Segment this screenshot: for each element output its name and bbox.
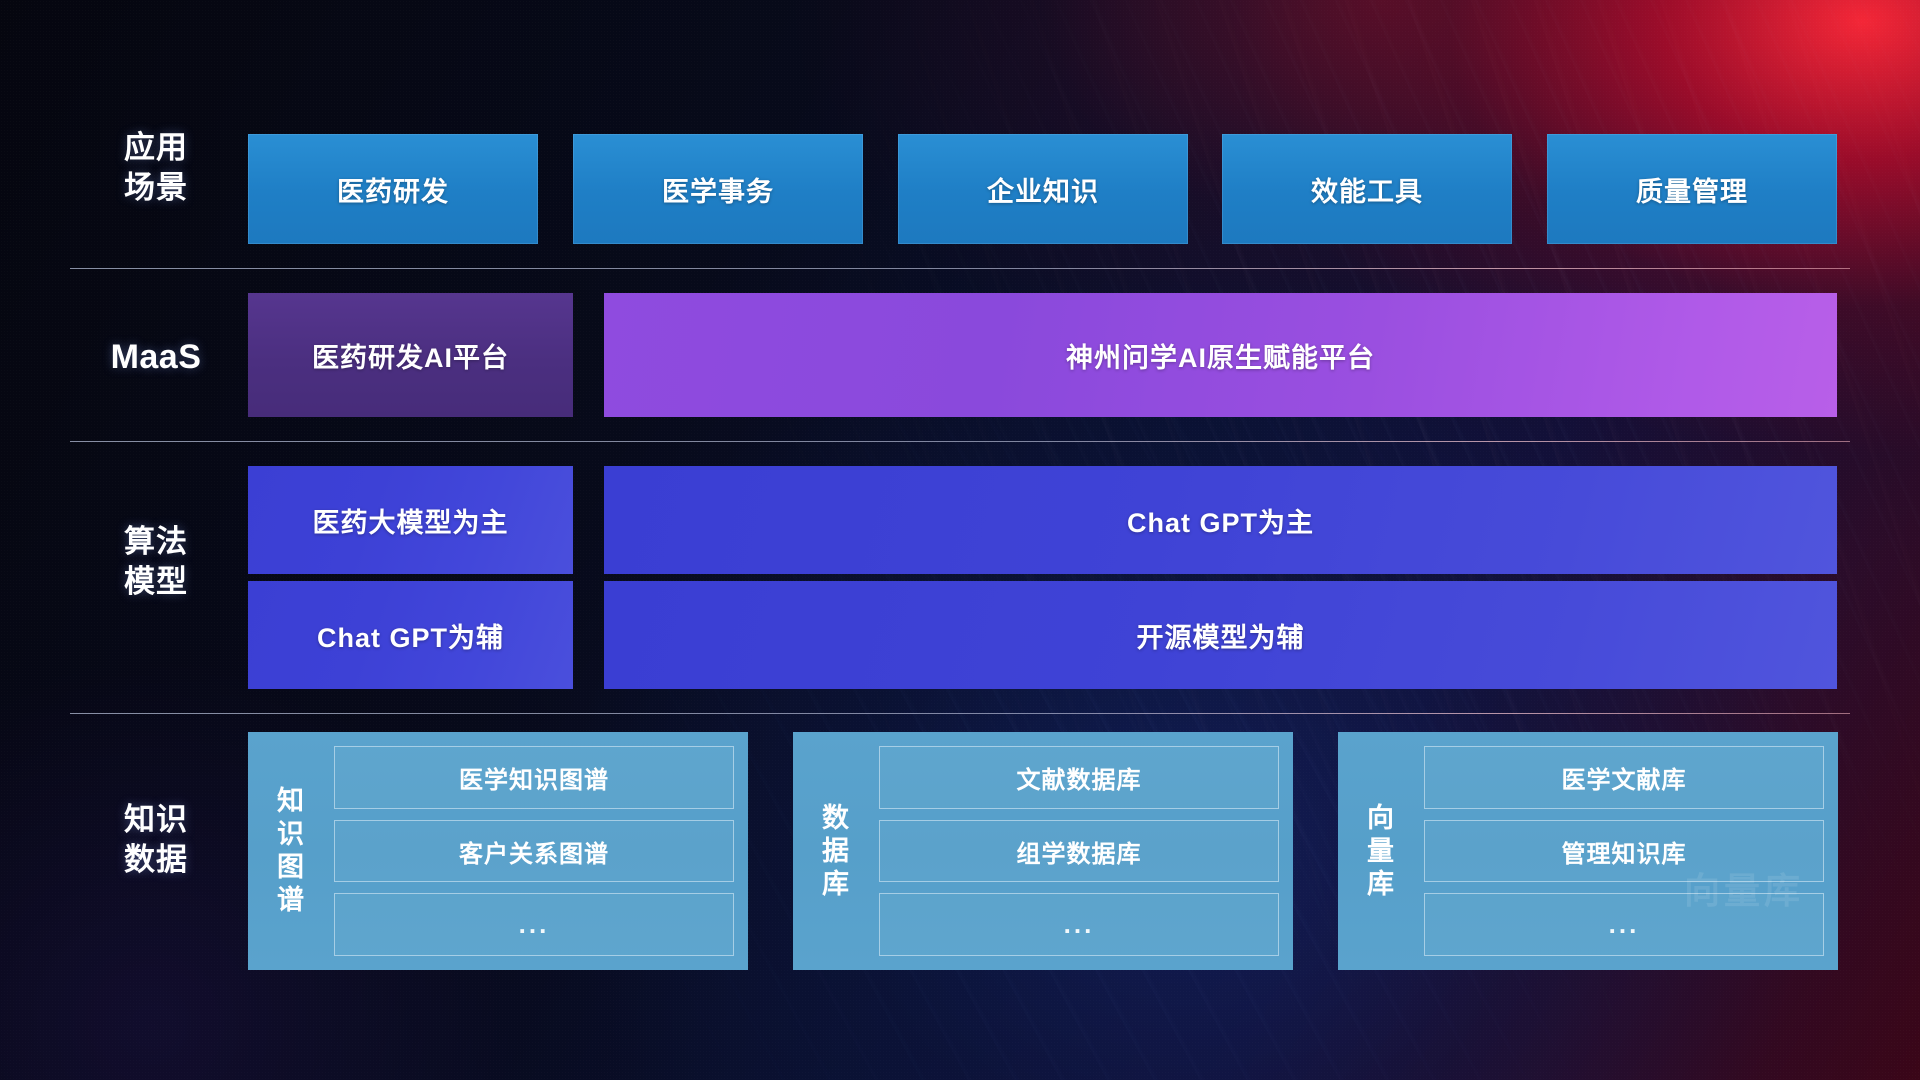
knowledge-item-2-3[interactable]: ... bbox=[879, 893, 1279, 956]
row-label-maas: MaaS bbox=[86, 337, 226, 377]
knowledge-panel-3-items: 医学文献库 管理知识库 ... bbox=[1424, 746, 1824, 956]
divider-application-maas bbox=[70, 268, 1850, 269]
knowledge-item-1-1[interactable]: 医学知识图谱 bbox=[334, 746, 734, 809]
algorithm-label-r2c2: 开源模型为辅 bbox=[1137, 616, 1305, 655]
knowledge-item-3-2[interactable]: 管理知识库 bbox=[1424, 820, 1824, 883]
divider-maas-algorithm bbox=[70, 441, 1850, 442]
maas-box-shenzhou-wenxue-platform[interactable]: 神州问学AI原生赋能平台 bbox=[604, 293, 1837, 417]
knowledge-item-1-3[interactable]: ... bbox=[334, 893, 734, 956]
knowledge-item-1-2[interactable]: 客户关系图谱 bbox=[334, 820, 734, 883]
knowledge-item-3-3[interactable]: ... bbox=[1424, 893, 1824, 956]
divider-algorithm-knowledge bbox=[70, 713, 1850, 714]
knowledge-panel-2-side-label: 数 据 库 bbox=[793, 746, 879, 956]
knowledge-item-2-1[interactable]: 文献数据库 bbox=[879, 746, 1279, 809]
knowledge-item-2-2[interactable]: 组学数据库 bbox=[879, 820, 1279, 883]
app-scenario-box-4[interactable]: 效能工具 bbox=[1222, 134, 1512, 244]
app-scenario-box-3[interactable]: 企业知识 bbox=[898, 134, 1188, 244]
app-scenario-label-5: 质量管理 bbox=[1636, 170, 1748, 209]
algorithm-label-r1c1: 医药大模型为主 bbox=[313, 501, 509, 540]
app-scenario-label-1: 医药研发 bbox=[337, 170, 449, 209]
algorithm-label-r1c2: Chat GPT为主 bbox=[1127, 501, 1314, 540]
knowledge-panel-database[interactable]: 数 据 库 文献数据库 组学数据库 ... bbox=[793, 732, 1293, 970]
maas-label-1: 医药研发AI平台 bbox=[312, 336, 509, 375]
algorithm-box-r1c2[interactable]: Chat GPT为主 bbox=[604, 466, 1837, 574]
app-scenario-label-2: 医学事务 bbox=[662, 170, 774, 209]
algorithm-label-r2c1: Chat GPT为辅 bbox=[317, 616, 504, 655]
app-scenario-label-4: 效能工具 bbox=[1311, 170, 1423, 209]
app-scenario-box-1[interactable]: 医药研发 bbox=[248, 134, 538, 244]
row-label-application: 应用 场景 bbox=[86, 128, 226, 208]
knowledge-panel-vector-db[interactable]: 向 量 库 医学文献库 管理知识库 ... 向量库 bbox=[1338, 732, 1838, 970]
app-scenario-label-3: 企业知识 bbox=[987, 170, 1099, 209]
algorithm-box-r1c1[interactable]: 医药大模型为主 bbox=[248, 466, 573, 574]
knowledge-panel-2-items: 文献数据库 组学数据库 ... bbox=[879, 746, 1279, 956]
knowledge-panel-1-side-label: 知 识 图 谱 bbox=[248, 746, 334, 956]
maas-label-2: 神州问学AI原生赋能平台 bbox=[1066, 336, 1375, 375]
knowledge-item-3-1[interactable]: 医学文献库 bbox=[1424, 746, 1824, 809]
knowledge-panel-3-side-label: 向 量 库 bbox=[1338, 746, 1424, 956]
knowledge-panel-1-items: 医学知识图谱 客户关系图谱 ... bbox=[334, 746, 734, 956]
app-scenario-box-5[interactable]: 质量管理 bbox=[1547, 134, 1837, 244]
app-scenario-box-2[interactable]: 医学事务 bbox=[573, 134, 863, 244]
maas-box-pharma-ai-platform[interactable]: 医药研发AI平台 bbox=[248, 293, 573, 417]
architecture-diagram: 应用 场景 医药研发 医学事务 企业知识 效能工具 质量管理 MaaS 医药研发… bbox=[0, 0, 1920, 1080]
row-label-knowledge: 知识 数据 bbox=[86, 800, 226, 880]
algorithm-box-r2c1[interactable]: Chat GPT为辅 bbox=[248, 581, 573, 689]
slide-canvas: 应用 场景 医药研发 医学事务 企业知识 效能工具 质量管理 MaaS 医药研发… bbox=[0, 0, 1920, 1080]
row-label-algorithm: 算法 模型 bbox=[86, 522, 226, 602]
knowledge-panel-knowledge-graph[interactable]: 知 识 图 谱 医学知识图谱 客户关系图谱 ... bbox=[248, 732, 748, 970]
algorithm-box-r2c2[interactable]: 开源模型为辅 bbox=[604, 581, 1837, 689]
